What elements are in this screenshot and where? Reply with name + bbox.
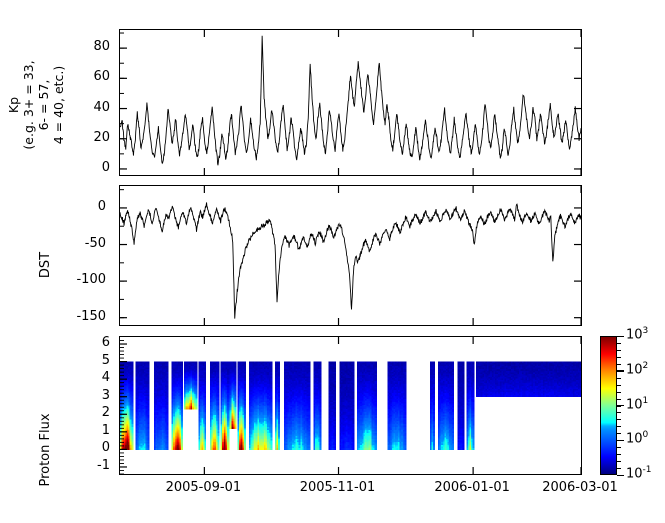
y-tick-label: 1 [66,423,110,438]
y-tick-label: 20 [66,130,110,145]
colorbar-minor-tick [617,406,621,407]
y-tick-label: 5 [66,353,110,368]
y-tick-label: 3 [66,388,110,403]
colorbar-minor-tick [617,364,621,365]
y-tick-label: 60 [66,69,110,84]
colorbar-minor-tick [617,378,621,379]
colorbar-minor-tick [617,461,621,462]
colorbar-tick-label: 101 [626,396,648,412]
colorbar-minor-tick [617,385,621,386]
colorbar-minor-tick [617,392,621,393]
kp-axis-label-line4: 4 = 40, etc.) [51,30,66,180]
colorbar-minor-tick [617,475,621,476]
x-tick-label: 2005-11-01 [283,480,393,495]
colorbar-minor-tick [617,412,621,413]
colorbar-tick-label: 10-1 [626,465,652,481]
y-tick-label: 4 [66,370,110,385]
colorbar-minor-tick [617,454,621,455]
proton-flux-plot-panel [119,336,582,475]
dst-plot-panel [119,185,582,326]
y-tick-label: -1 [66,458,110,473]
proton-flux-axis-label: Proton Flux [38,413,53,486]
colorbar-minor-tick [617,357,621,358]
colorbar-minor-tick [617,433,621,434]
kp-series [120,30,581,175]
y-tick-label: -100 [62,272,106,287]
y-tick-label: 2 [66,405,110,420]
colorbar-minor-tick [617,371,621,372]
dst-series [120,186,581,325]
kp-axis-label-line3: 6- = 57, [36,30,51,180]
y-tick-label: 0 [62,199,106,214]
x-tick-label: 2005-09-01 [148,480,258,495]
kp-axis-label-line1: Kp [6,30,21,180]
colorbar-minor-tick [617,468,621,469]
colorbar-minor-tick [617,447,621,448]
colorbar-minor-tick [617,399,621,400]
y-tick-label: 6 [66,335,110,350]
kp-axis-label-line2: (e.g. 3+ = 33, [21,30,36,180]
colorbar-tick-mark [617,336,624,337]
x-tick-label: 2006-03-01 [525,480,635,495]
dst-axis-label: DST [38,252,53,278]
proton-flux-heatmap [120,337,581,474]
colorbar-tick-label: 102 [626,361,648,377]
colorbar-minor-tick [617,350,621,351]
colorbar-minor-tick [617,343,621,344]
colorbar-minor-tick [617,440,621,441]
colorbar [600,336,617,475]
y-tick-label: 0 [66,440,110,455]
y-tick-label: 40 [66,100,110,115]
y-tick-label: -50 [62,236,106,251]
colorbar-minor-tick [617,419,621,420]
figure-root: Kp (e.g. 3+ = 33, 6- = 57, 4 = 40, etc.)… [0,0,665,523]
colorbar-tick-label: 100 [626,430,648,446]
kp-axis-label: Kp (e.g. 3+ = 33, 6- = 57, 4 = 40, etc.) [6,30,66,180]
y-tick-label: -150 [62,309,106,324]
colorbar-tick-label: 103 [626,326,648,342]
x-tick-label: 2006-01-01 [417,480,527,495]
colorbar-minor-tick [617,426,621,427]
y-tick-label: 0 [66,160,110,175]
y-tick-label: 80 [66,39,110,54]
kp-plot-panel [119,29,582,176]
